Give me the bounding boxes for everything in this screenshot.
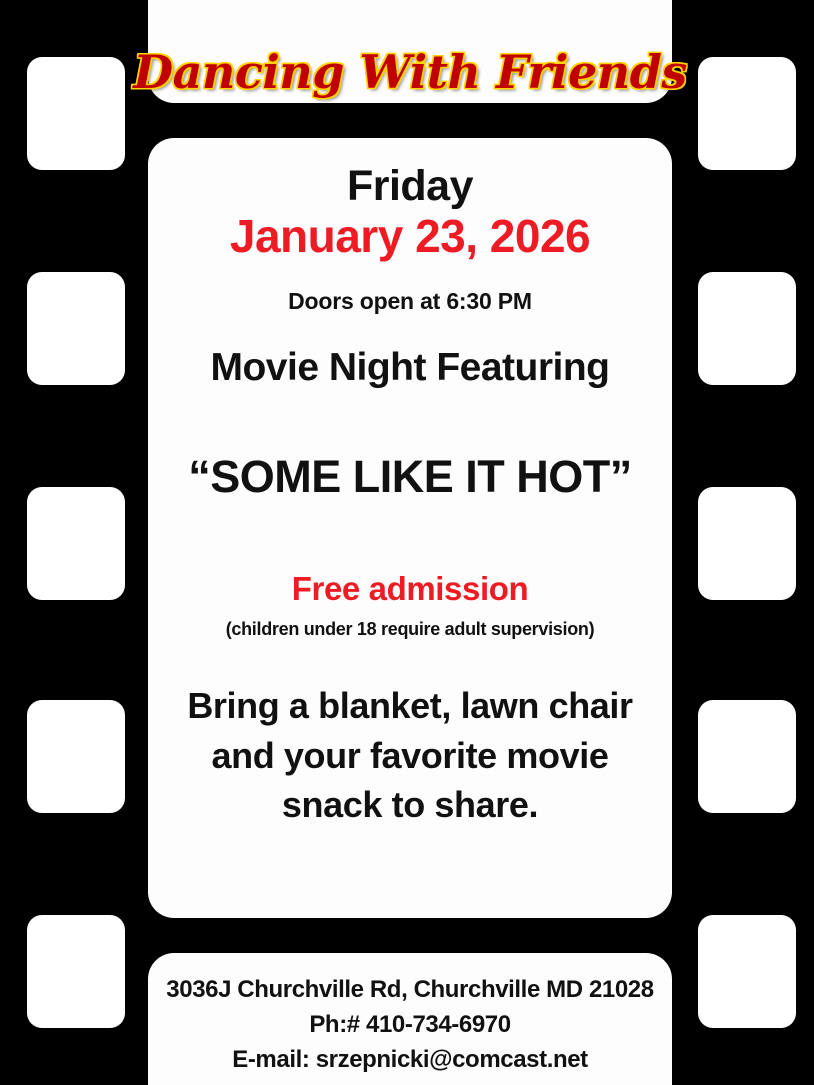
main-content-card: Friday January 23, 2026 Doors open at 6:… [148, 138, 672, 918]
sprocket-hole-left-5 [27, 915, 125, 1028]
sprocket-hole-right-3 [698, 487, 796, 600]
movie-title: “SOME LIKE IT HOT” [166, 452, 654, 502]
featuring-label: Movie Night Featuring [166, 347, 654, 390]
event-date: January 23, 2026 [166, 211, 654, 263]
bring-line-3: snack to share. [166, 780, 654, 829]
venue-address: 3036J Churchville Rd, Churchville MD 210… [162, 975, 658, 1005]
event-day: Friday [166, 164, 654, 209]
admission-price: Free admission [166, 571, 654, 607]
bring-line-1: Bring a blanket, lawn chair [166, 681, 654, 730]
sprocket-hole-left-1 [27, 57, 125, 170]
movie-night-flyer: Dancing With Friends Friday January 23, … [0, 0, 814, 1085]
contact-email: E-mail: srzepnicki@comcast.net [162, 1045, 658, 1075]
bring-line-2: and your favorite movie [166, 731, 654, 780]
sprocket-hole-left-4 [27, 700, 125, 813]
sprocket-hole-right-2 [698, 272, 796, 385]
sprocket-hole-right-4 [698, 700, 796, 813]
admission-note: (children under 18 require adult supervi… [166, 620, 654, 640]
sprocket-hole-left-3 [27, 487, 125, 600]
contact-phone: Ph:# 410-734-6970 [162, 1010, 658, 1040]
sprocket-hole-right-5 [698, 915, 796, 1028]
sprocket-hole-right-1 [698, 57, 796, 170]
flyer-title: Dancing With Friends [133, 49, 687, 95]
contact-card: 3036J Churchville Rd, Churchville MD 210… [148, 953, 672, 1085]
title-card: Dancing With Friends [148, 0, 672, 103]
bring-instructions: Bring a blanket, lawn chair and your fav… [166, 681, 654, 829]
doors-open-time: Doors open at 6:30 PM [166, 289, 654, 314]
sprocket-hole-left-2 [27, 272, 125, 385]
